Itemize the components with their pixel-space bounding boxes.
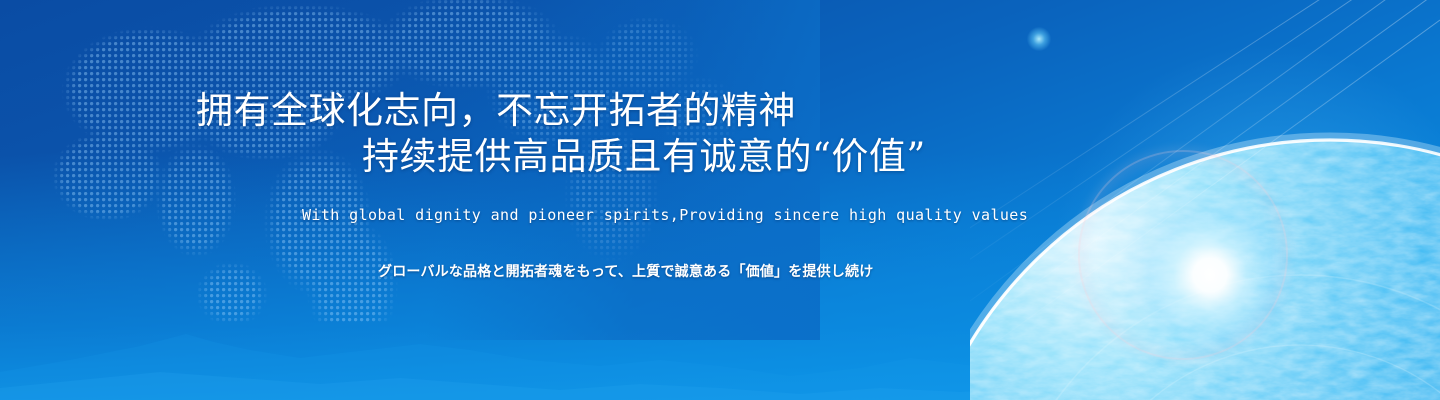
subtitle-english: With global dignity and pioneer spirits,… bbox=[302, 206, 1028, 224]
headline-line-1: 拥有全球化志向，不忘开拓者的精神 bbox=[196, 92, 796, 129]
sun-flare-halo-ring bbox=[1078, 150, 1288, 360]
banner-copy: 拥有全球化志向，不忘开拓者的精神 持续提供高品质且有诚意的“价值” With g… bbox=[0, 0, 1100, 400]
headline-line-2: 持续提供高品质且有诚意的“价值” bbox=[362, 138, 926, 175]
subtitle-japanese: グローバルな品格と開拓者魂をもって、上質で誠意ある「価値」を提供し続け bbox=[378, 261, 873, 281]
hero-banner: 拥有全球化志向，不忘开拓者的精神 持续提供高品质且有诚意的“价值” With g… bbox=[0, 0, 1440, 400]
sun-flare-icon bbox=[1070, 135, 1350, 400]
